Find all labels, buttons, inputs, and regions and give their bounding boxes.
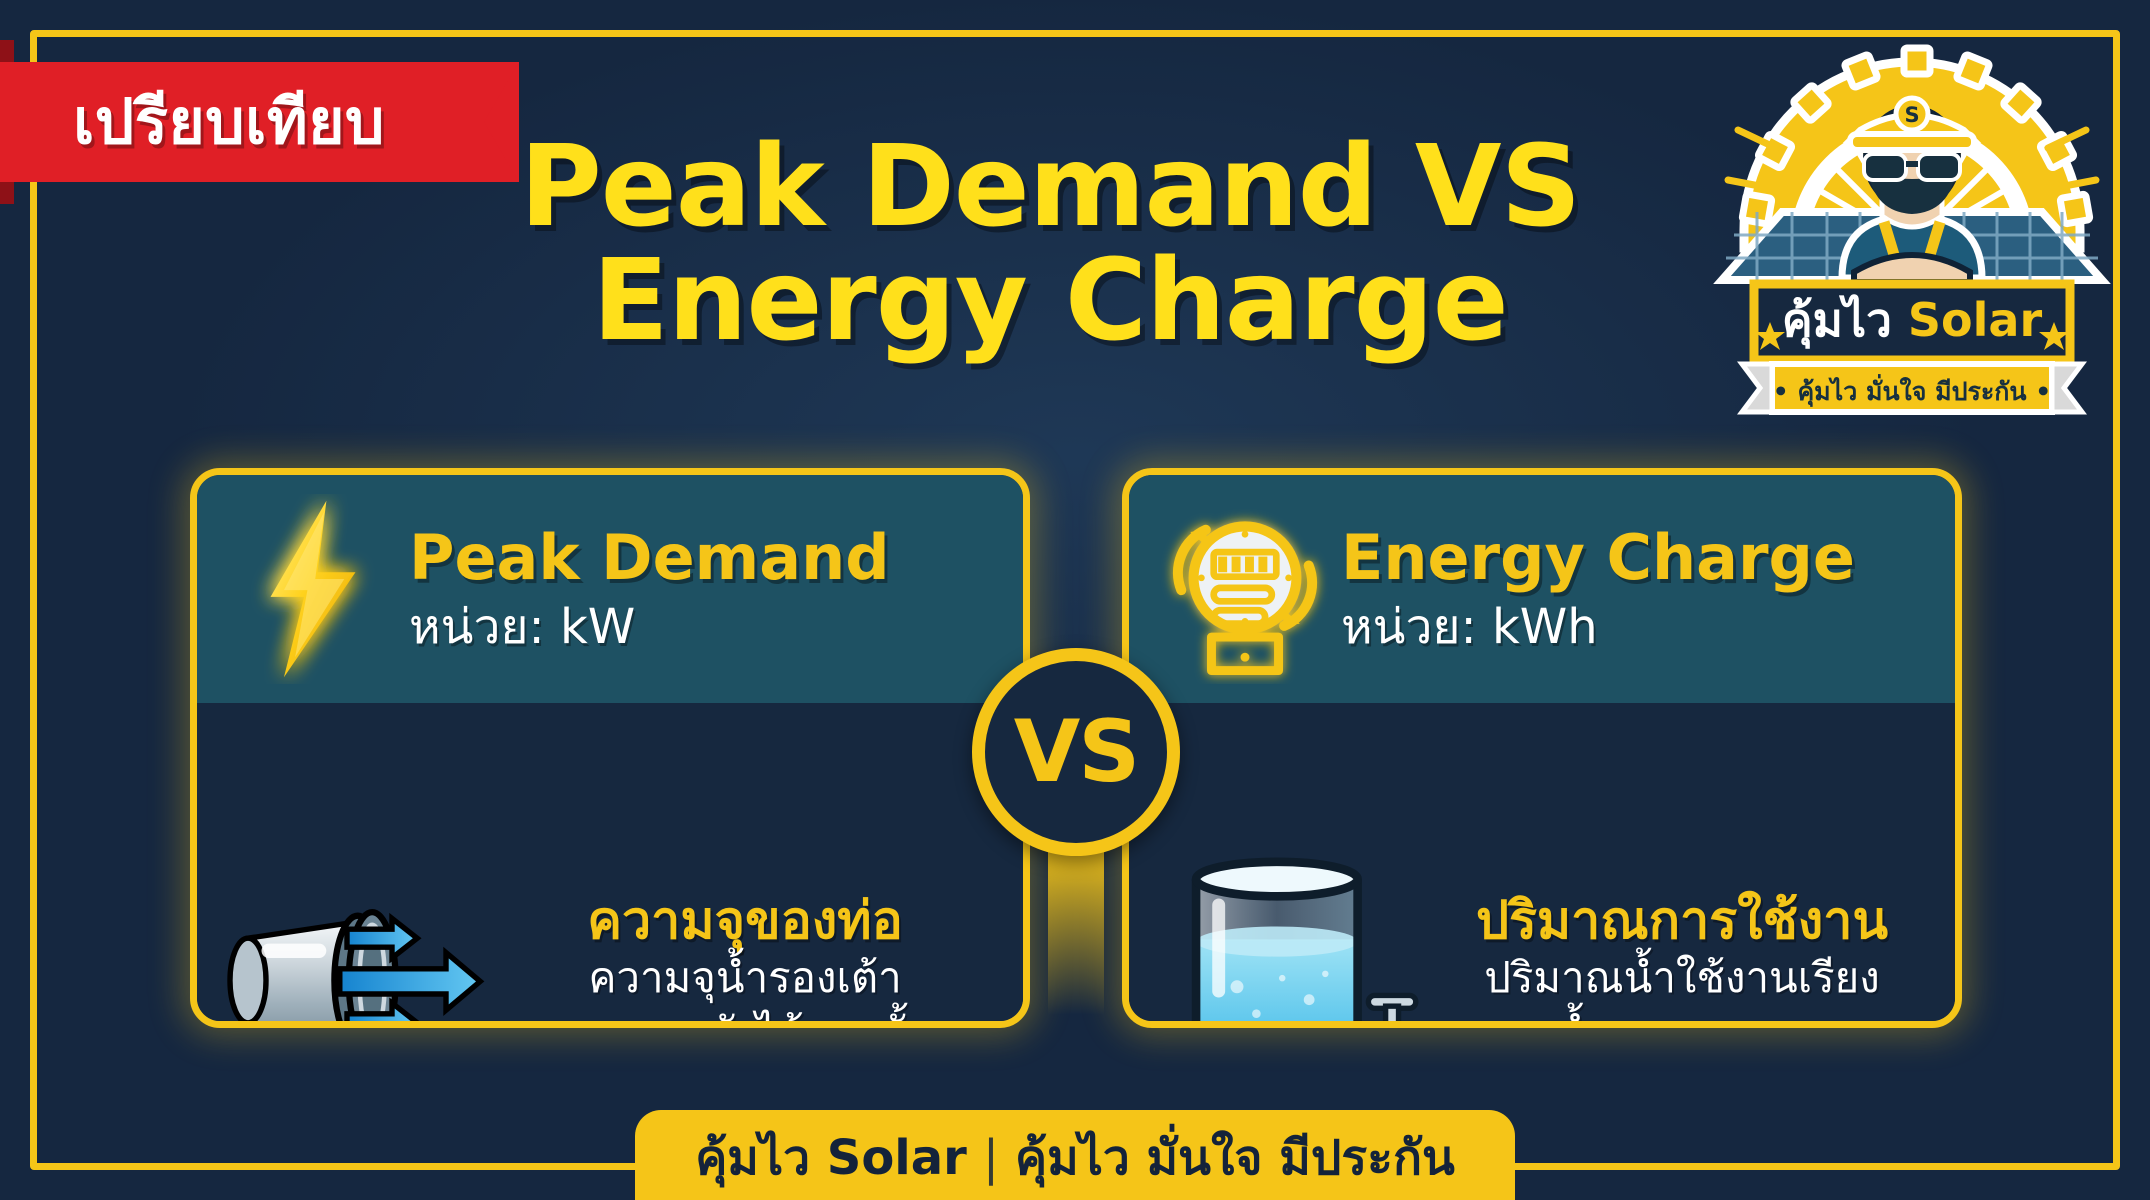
- brand-logo: S คุ้มไว Solar • คุ้มไว มั: [1712, 30, 2112, 430]
- footer-brand: คุ้มไว Solar: [695, 1120, 967, 1196]
- footer-tagline: คุ้มไว มั่นใจ มีประกัน: [1015, 1120, 1455, 1196]
- energy-charge-title: Energy Charge: [1341, 527, 1929, 589]
- footer-separator: |: [967, 1130, 1015, 1186]
- energy-charge-body-text: ปริมาณการใช้งาน ปริมาณน้ำใช้งานเรียง สวบ…: [1433, 892, 1931, 1029]
- title-line-2: Energy Charge: [430, 244, 1670, 358]
- lightning-bolt-icon: [223, 494, 403, 684]
- ribbon-label: เปรียบเทียบ: [0, 62, 444, 182]
- energy-charge-unit: หน่วย: kWh: [1341, 603, 1929, 651]
- peak-demand-unit: หน่วย: kW: [409, 603, 997, 651]
- peak-demand-title: Peak Demand: [409, 527, 997, 589]
- peak-demand-body-heading: ความจุของท่อ: [495, 892, 995, 952]
- helmet-letter: S: [1904, 103, 1919, 127]
- vs-badge-stem: [1048, 840, 1104, 1030]
- energy-charge-body-line-2: สวบน้ำสะบุมเวลาเวลา: [1437, 1006, 1927, 1028]
- ribbon-fold-bottom: [0, 182, 14, 204]
- page-title: Peak Demand VS Energy Charge: [430, 130, 1670, 358]
- logo-tagline-text: • คุ้มไว มั่นใจ มีประกัน •: [1773, 374, 2051, 408]
- peak-demand-head-text: Peak Demand หน่วย: kW: [403, 527, 997, 651]
- energy-charge-card: Energy Charge หน่วย: kWh: [1122, 468, 1962, 1028]
- peak-demand-card-header: Peak Demand หน่วย: kW: [197, 475, 1023, 703]
- pipe-flow-icon: [221, 831, 491, 1028]
- peak-demand-body-line-1: ความจุน้ำรองเต้า: [495, 951, 995, 1006]
- energy-charge-body-line-1: ปริมาณน้ำใช้งานเรียง: [1437, 951, 1927, 1006]
- infographic-poster: เปรียบเทียบ Peak Demand VS Energy Charge: [0, 0, 2150, 1200]
- logo-brand-text: คุ้มไว Solar: [1782, 293, 2043, 349]
- vs-badge: VS: [972, 648, 1180, 856]
- energy-charge-card-header: Energy Charge หน่วย: kWh: [1129, 475, 1955, 703]
- water-bucket-faucet-icon: [1153, 831, 1433, 1028]
- energy-charge-head-text: Energy Charge หน่วย: kWh: [1335, 527, 1929, 651]
- energy-charge-body-heading: ปริมาณการใช้งาน: [1437, 892, 1927, 952]
- energy-charge-card-body: ปริมาณการใช้งาน ปริมาณน้ำใช้งานเรียง สวบ…: [1129, 703, 1955, 1028]
- peak-demand-body-text: ความจุของท่อ ความจุน้ำรองเต้า ความฆะรังไ…: [491, 892, 999, 1029]
- title-line-1: Peak Demand VS: [520, 122, 1581, 252]
- peak-demand-card-body: ความจุของท่อ ความจุน้ำรองเต้า ความฆะรังไ…: [197, 703, 1023, 1028]
- peak-demand-card: Peak Demand หน่วย: kW: [190, 468, 1030, 1028]
- footer-bar: คุ้มไว Solar | คุ้มไว มั่นใจ มีประกัน: [635, 1110, 1515, 1200]
- peak-demand-body-line-2: ความฆะรังได้อดาลั้น: [495, 1006, 995, 1028]
- ribbon-fold-top: [0, 40, 14, 62]
- electric-meter-icon: [1155, 494, 1335, 684]
